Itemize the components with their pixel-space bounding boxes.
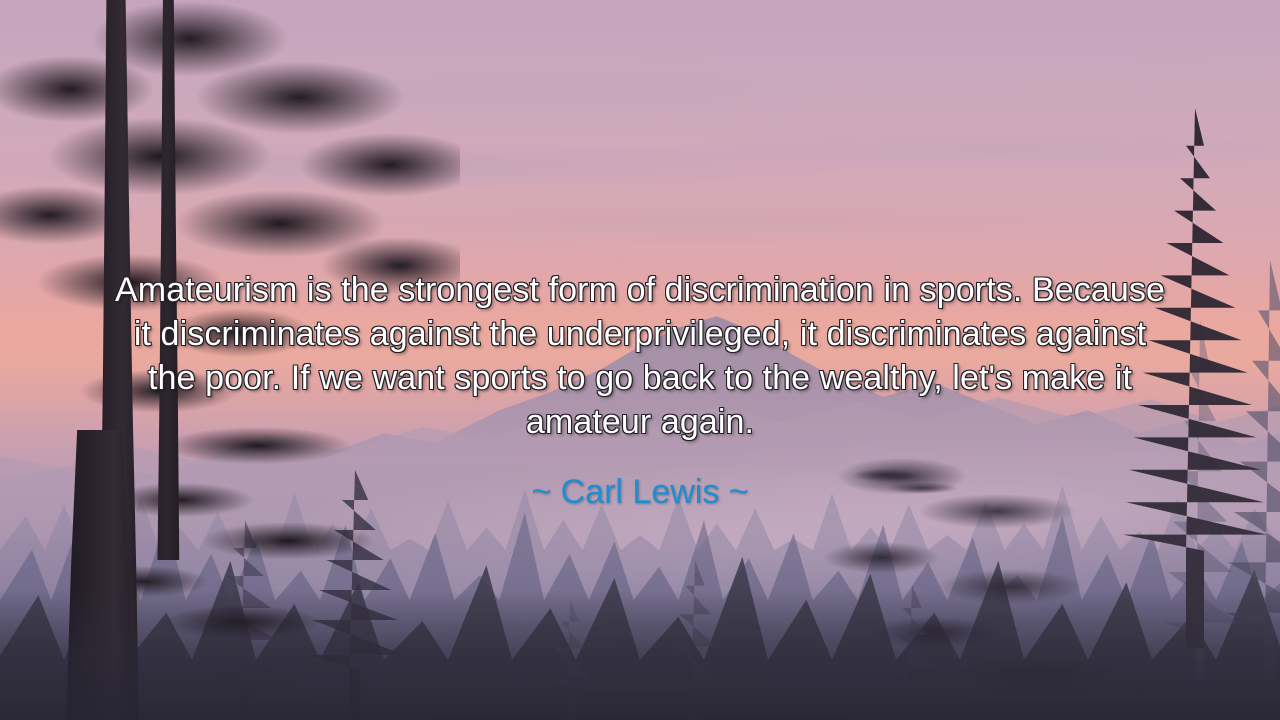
quote-image: Amateurism is the strongest form of disc… xyxy=(0,0,1280,720)
quote-text: Amateurism is the strongest form of disc… xyxy=(110,268,1170,444)
quote-author: ~ Carl Lewis ~ xyxy=(531,472,748,512)
quote-overlay: Amateurism is the strongest form of disc… xyxy=(0,0,1280,720)
